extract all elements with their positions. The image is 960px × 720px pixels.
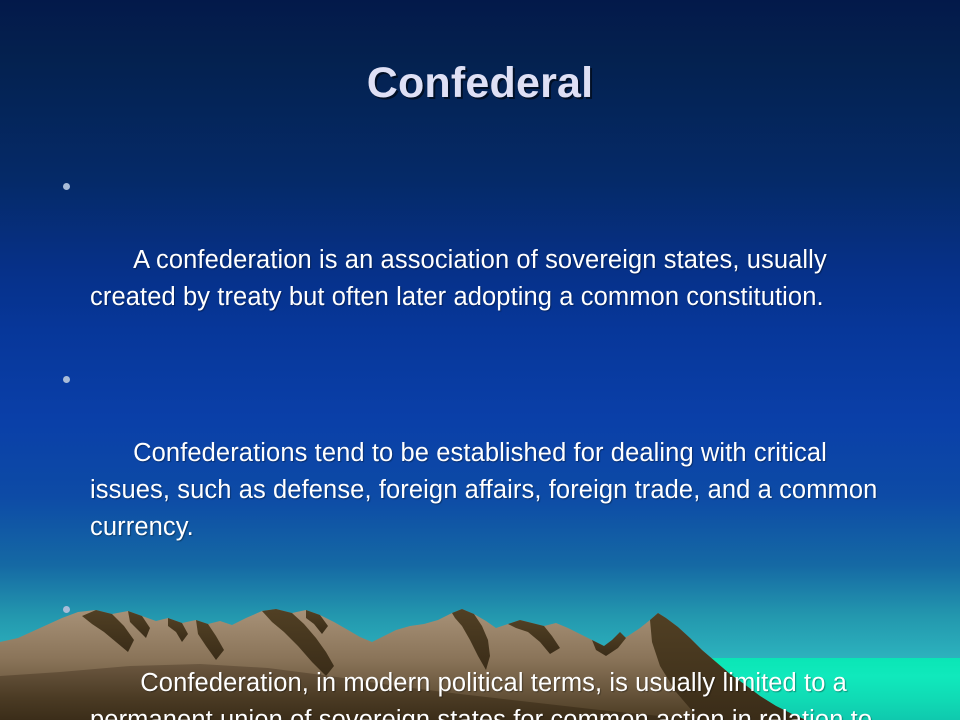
bullet-dot-icon xyxy=(63,376,70,383)
slide-canvas: Confederal A confederation is an associa… xyxy=(0,0,960,720)
list-item: Confederations tend to be established fo… xyxy=(58,361,908,583)
slide-title: Confederal xyxy=(0,57,960,109)
list-item-text: Confederations tend to be established fo… xyxy=(90,439,885,541)
list-item-text: Confederation, in modern political terms… xyxy=(90,669,879,720)
list-item-text: A confederation is an association of sov… xyxy=(90,246,834,311)
list-item: Confederation, in modern political terms… xyxy=(58,591,908,720)
list-item: A confederation is an association of sov… xyxy=(58,168,908,353)
bullet-dot-icon xyxy=(63,606,70,613)
slide-body-content: A confederation is an association of sov… xyxy=(58,168,908,720)
bullet-dot-icon xyxy=(63,183,70,190)
